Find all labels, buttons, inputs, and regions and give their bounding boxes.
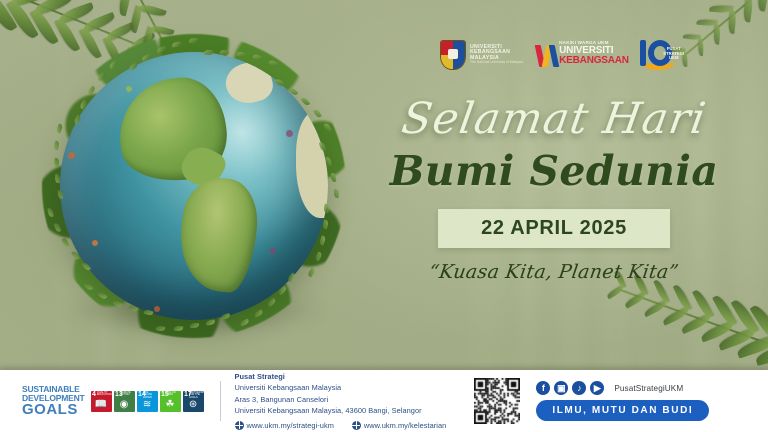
vegetation-sprig xyxy=(57,190,63,199)
sdg-goal-14: 14LIFE BELOW WATER≋ xyxy=(137,391,158,412)
vegetation-bloom xyxy=(68,152,75,159)
footer-top-shadow xyxy=(0,362,768,370)
youtube-icon[interactable]: ▶ xyxy=(590,381,604,395)
website-link-kelestarian[interactable]: www.ukm.my/kelestarian xyxy=(352,420,446,431)
instagram-icon[interactable]: ▣ xyxy=(554,381,568,395)
ukm-crest-shield-icon xyxy=(440,40,466,70)
sdg-goal-4: 4QUALITY EDUCATION📖 xyxy=(91,391,112,412)
social-icon-row: f▣♪▶ PusatStrategiUKM xyxy=(536,381,709,395)
address-block: Pusat Strategi Universiti Kebangsaan Mal… xyxy=(235,371,447,431)
address-org: Pusat Strategi xyxy=(235,371,447,382)
vegetation-bloom xyxy=(92,240,98,246)
event-tagline: “Kuasa Kita, Planet Kita” xyxy=(372,261,735,283)
facebook-icon[interactable]: f xyxy=(536,381,550,395)
vegetation-sprig xyxy=(54,174,59,183)
ukm-wordmark-line2: KEBANGSAAN xyxy=(559,56,629,66)
vegetation-sprig xyxy=(323,204,329,214)
sdg-wordmark-line3: GOALS xyxy=(22,402,85,417)
sdg-logo-group: SUSTAINABLE DEVELOPMENT GOALS 4QUALITY E… xyxy=(22,385,204,417)
headline-bold: Bumi Sedunia xyxy=(374,150,734,193)
pusat-strategi-10-logo: PUSAT STRATEGI UKM xyxy=(639,38,683,72)
headline-block: Selamat Hari Bumi Sedunia 22 APRIL 2025 … xyxy=(374,98,734,283)
anniversary-label: PUSAT STRATEGI UKM xyxy=(663,47,684,61)
sdg-goal-17: 17PARTNERSHIPS FOR THE GOALS⊛ xyxy=(183,391,204,412)
anniversary-digit-one xyxy=(640,40,646,66)
address-line2: Aras 3, Bangunan Canselori xyxy=(235,394,447,405)
ukm-crest-logo: UNIVERSITI KEBANGSAAN MALAYSIA The Natio… xyxy=(440,40,523,70)
social-block: f▣♪▶ PusatStrategiUKM ILMU, MUTU DAN BUD… xyxy=(536,381,709,421)
globe-icon xyxy=(235,421,244,430)
green-earth-globe xyxy=(34,34,354,354)
ukm-wordmark-text: HAKIKI WARGA UKM UNIVERSITI KEBANGSAAN xyxy=(559,41,629,66)
address-line1: Universiti Kebangsaan Malaysia xyxy=(235,382,447,393)
address-line3: Universiti Kebangsaan Malaysia, 43600 Ba… xyxy=(235,405,447,416)
vegetation-sprig xyxy=(53,157,59,167)
vegetation-bloom xyxy=(126,86,132,92)
sdg-wordmark: SUSTAINABLE DEVELOPMENT GOALS xyxy=(22,385,85,417)
vegetation-bloom xyxy=(154,306,160,312)
qr-code[interactable] xyxy=(474,378,520,424)
sdg-goal-13: 13CLIMATE ACTION◉ xyxy=(114,391,135,412)
vegetation-sprig xyxy=(189,37,198,42)
ukm-wordmark-logo: HAKIKI WARGA UKM UNIVERSITI KEBANGSAAN xyxy=(537,40,625,70)
event-date-badge: 22 APRIL 2025 xyxy=(438,209,670,248)
ukm-crest-text: UNIVERSITI KEBANGSAAN MALAYSIA The Natio… xyxy=(470,45,523,65)
headline-script: Selamat Hari xyxy=(371,98,738,142)
ukm-crest-subline: The National University of Malaysia xyxy=(470,61,523,65)
sdg-goal-15: 15LIFE ON LAND☘ xyxy=(160,391,181,412)
vegetation-bloom xyxy=(270,248,276,254)
social-handle: PusatStrategiUKM xyxy=(614,384,683,393)
website-url-kelestarian: www.ukm.my/kelestarian xyxy=(364,420,446,431)
vegetation-bloom xyxy=(286,130,293,137)
earth-day-poster: UNIVERSITI KEBANGSAAN MALAYSIA The Natio… xyxy=(0,0,768,432)
anniversary-label-3: UKM xyxy=(663,56,684,61)
sdg-tile-list: 4QUALITY EDUCATION📖13CLIMATE ACTION◉14LI… xyxy=(91,391,204,412)
landmass-south-america xyxy=(175,174,261,294)
motto-badge: ILMU, MUTU DAN BUDI xyxy=(536,400,709,421)
social-icon-list: f▣♪▶ xyxy=(536,381,604,395)
vegetation-sprig xyxy=(173,325,183,331)
footer-bar: SUSTAINABLE DEVELOPMENT GOALS 4QUALITY E… xyxy=(0,370,768,432)
top-logo-row: UNIVERSITI KEBANGSAAN MALAYSIA The Natio… xyxy=(440,38,683,72)
website-link-strategi[interactable]: www.ukm.my/strategi-ukm xyxy=(235,420,334,431)
website-url-strategi: www.ukm.my/strategi-ukm xyxy=(247,420,334,431)
globe-icon xyxy=(352,421,361,430)
address-links: www.ukm.my/strategi-ukm www.ukm.my/keles… xyxy=(235,420,447,431)
tiktok-icon[interactable]: ♪ xyxy=(572,381,586,395)
footer-divider xyxy=(220,381,221,421)
landmass-africa-edge xyxy=(296,111,328,218)
